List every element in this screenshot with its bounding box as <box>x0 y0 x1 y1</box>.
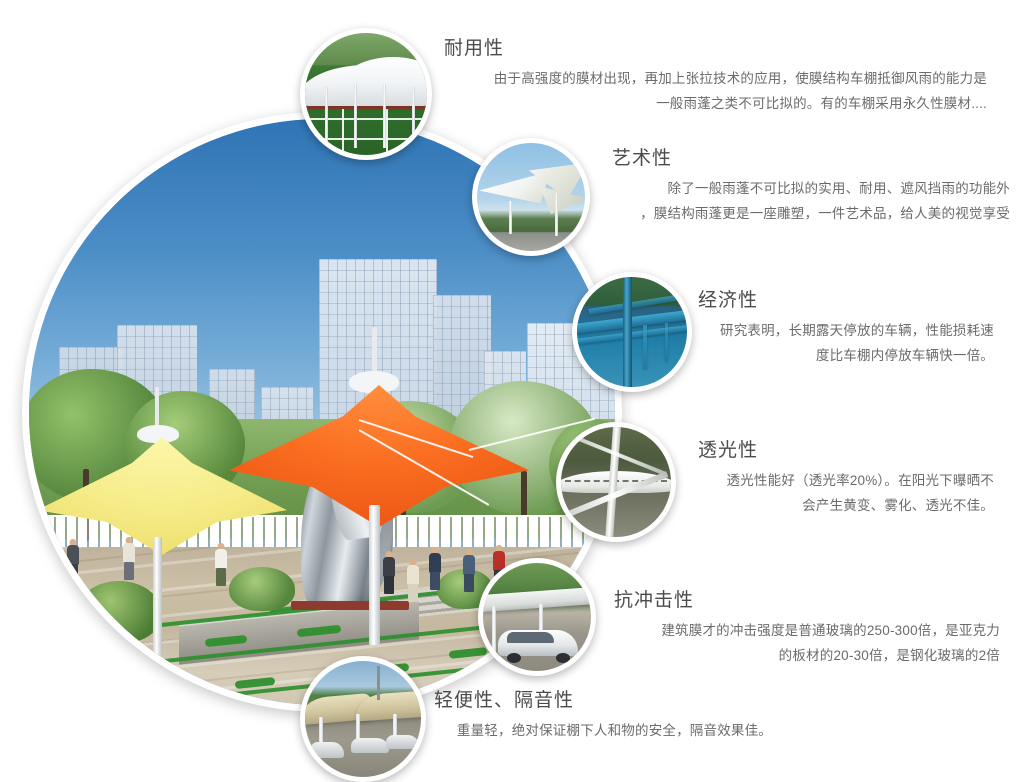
steel-column <box>623 277 632 387</box>
feature-text-durability: 耐用性 由于高强度的膜材出现，再加上张拉技术的应用，使膜结构车棚抵御风雨的能力是… <box>442 38 987 117</box>
feature-text-artistry: 艺术性 除了一般雨蓬不可比拟的实用、耐用、遮风挡雨的功能外 ，膜结构雨蓬更是一座… <box>600 148 1010 227</box>
feature-text-lightweight-soundproof: 轻便性、隔音性 重量轻，绝对保证棚下人和物的安全，隔音效果佳。 <box>432 690 772 744</box>
feature-title: 抗冲击性 <box>614 590 1000 613</box>
tennis-court-canopy-thumb <box>300 28 432 160</box>
sculpture-base <box>291 601 409 610</box>
thumb-image <box>305 33 427 155</box>
parked-car <box>351 738 388 753</box>
parked-car <box>310 742 345 758</box>
feature-line: 研究表明，长期露天停放的车辆，性能损耗速 <box>694 319 994 344</box>
steel-brace <box>643 325 647 369</box>
feature-title: 耐用性 <box>444 38 987 61</box>
feature-line: 一般雨蓬之类不可比拟的。有的车棚采用永久性膜材.... <box>442 92 987 117</box>
feature-title: 透光性 <box>698 440 994 463</box>
thumb-image <box>305 661 421 777</box>
car-window <box>507 632 555 643</box>
feature-title: 轻便性、隔音性 <box>434 690 772 713</box>
feature-line: ，膜结构雨蓬更是一座雕塑，一件艺术品，给人美的视觉享受 <box>600 202 1010 227</box>
thumb-image <box>577 277 687 387</box>
feature-line: 由于高强度的膜材出现，再加上张拉技术的应用，使膜结构车棚抵御风雨的能力是 <box>442 67 987 92</box>
car-wheel <box>507 653 521 664</box>
feature-line: 透光性能好（透光率20%）。在阳光下曝晒不 <box>694 469 994 494</box>
sail-shade-thumb <box>472 138 590 256</box>
feature-line: 除了一般雨蓬不可比拟的实用、耐用、遮风挡雨的功能外 <box>600 177 1010 202</box>
feature-line: 建筑膜才的冲击强度是普通玻璃的250-300倍，是亚克力 <box>610 619 1000 644</box>
umbrella-cap <box>137 425 179 443</box>
infographic-stage: 耐用性 由于高强度的膜材出现，再加上张拉技术的应用，使膜结构车棚抵御风雨的能力是… <box>0 0 1023 782</box>
white-membrane-detail-thumb <box>556 422 676 542</box>
umbrella-mast <box>153 537 162 657</box>
feature-line: 重量轻，绝对保证棚下人和物的安全，隔音效果佳。 <box>432 719 772 744</box>
feature-text-translucency: 透光性 透光性能好（透光率20%）。在阳光下曝晒不 会产生黄变、雾化、透光不佳。 <box>694 440 994 519</box>
feature-text-economy: 经济性 研究表明，长期露天停放的车辆，性能损耗速 度比车棚内停放车辆快一倍。 <box>694 290 994 369</box>
car-wheel <box>556 653 570 664</box>
feature-line: 度比车棚内停放车辆快一倍。 <box>694 344 994 369</box>
blue-steel-canopy-thumb <box>572 272 692 392</box>
thumb-image <box>477 143 585 251</box>
beige-parking-canopy-thumb <box>300 656 426 782</box>
orange-membrane-umbrella <box>229 327 529 597</box>
feature-line: 会产生黄变、雾化、透光不佳。 <box>694 494 994 519</box>
carport-roof <box>483 587 591 613</box>
thumb-image <box>483 563 591 671</box>
parked-car <box>386 735 418 749</box>
thumb-image <box>561 427 671 537</box>
steel-brace <box>665 323 668 360</box>
carport-suv-thumb <box>478 558 596 676</box>
feature-title: 经济性 <box>698 290 994 313</box>
feature-line: 的板材的20-30倍，是钢化玻璃的2倍 <box>610 644 1000 669</box>
umbrella-mast <box>369 505 380 645</box>
feature-text-impact-resistance: 抗冲击性 建筑膜才的冲击强度是普通玻璃的250-300倍，是亚克力 的板材的20… <box>610 590 1000 669</box>
feature-title: 艺术性 <box>612 148 1010 171</box>
